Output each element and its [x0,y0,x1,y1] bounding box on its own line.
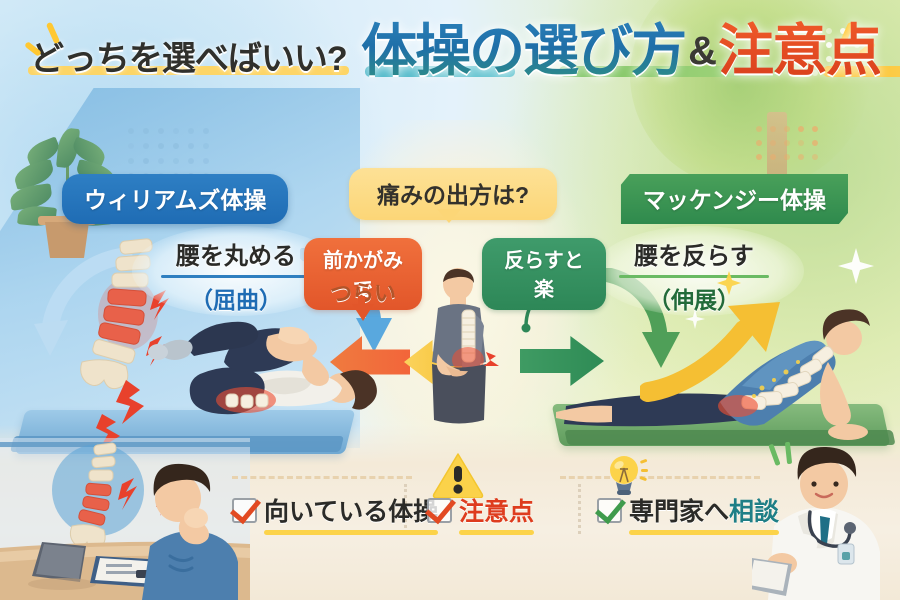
footer-item-suitable-exercise[interactable]: 向いている体操 [232,492,438,528]
left-label-divider [161,275,311,278]
footer-item-cautions-text: 注意点 [459,498,534,526]
footer-item-cautions[interactable]: 注意点 [427,492,534,528]
dot-pattern-center-right [756,126,826,160]
center-question-bubble-tail [437,209,461,223]
page-subtitle-text: どっちを選べばいい? [30,40,347,78]
right-label-main: 腰を反らす [604,236,784,271]
center-down-arrow-head [352,304,374,321]
page-title-part2: 注意点 [718,19,880,82]
footer-item-consult-label: 専門家へ相談 [629,492,779,528]
page-subtitle: どっちを選べばいい? [20,42,357,76]
footer-dashed-line-right [560,476,760,479]
page-title-ampersand: & [685,29,718,73]
checkbox-icon-consult[interactable] [597,498,622,523]
panel-badge-williams: ウィリアムズ体操 [62,174,288,224]
center-question-text: 痛みの出方は? [377,182,529,208]
sparkle-icon-right-tiny [684,308,706,330]
page-title: 体操の選び方&注意点 [361,22,880,80]
checkbox-icon-suitable[interactable] [232,498,257,523]
right-label-divider [619,275,769,278]
footer-item-suitable-underline [264,530,438,535]
panel-badge-mckenzie: マッケンジー体操 [621,174,848,224]
center-pill-extension-relief: 反らすと楽 [482,238,606,310]
center-pill-extension-relief-label: 反らすと楽 [504,250,584,301]
footer-item-consult-text-b: 相談 [729,498,779,526]
right-upward-yellow-arrow [640,300,800,410]
footer-item-cautions-label: 注意点 [459,492,534,528]
page-title-part1: 体操の選び方 [361,19,685,82]
footer-item-consult-text-a: 専門家へ [629,498,729,526]
footer-item-cautions-underline [459,530,534,535]
panel-badge-williams-label: ウィリアムズ体操 [84,187,266,213]
left-person-knee-to-chest-illustration [128,300,388,445]
footer-divider-2 [578,484,581,534]
checkbox-icon-cautions[interactable] [427,498,452,523]
footer-item-consult-underline [629,530,779,535]
infographic-canvas: どっちを選べばいい? 体操の選び方&注意点 ウィリアムズ体操 マッケンジー体操 … [0,0,900,600]
footer-item-suitable-text: 向いている体操 [264,498,438,526]
footer-dashed-line-left [232,476,412,479]
panel-badge-mckenzie-label: マッケンジー体操 [643,187,826,213]
footer-item-suitable-label: 向いている体操 [264,492,438,528]
left-label-main: 腰を丸める [146,236,326,271]
sparkle-icon-right-small [716,270,742,296]
title-block: どっちを選べばいい? 体操の選び方&注意点 [0,16,900,80]
sparkle-icon-right [836,246,876,286]
footer-item-consult-specialist[interactable]: 専門家へ相談 [597,492,779,528]
